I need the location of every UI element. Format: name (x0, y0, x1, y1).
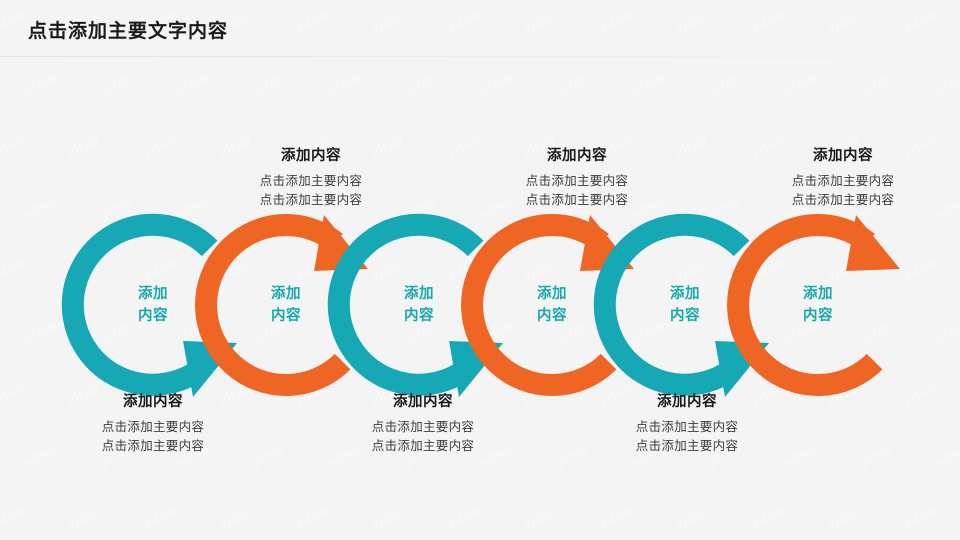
cycle-arcs-svg (0, 0, 960, 540)
ring-label-2-line2: 内容 (243, 305, 329, 327)
callout-bottom-2-line2: 点击添加主要内容 (308, 437, 538, 456)
callout-bottom-2-title: 添加内容 (308, 391, 538, 413)
callout-top-3[interactable]: 添加内容 点击添加主要内容 点击添加主要内容 (728, 145, 958, 210)
ring-label-3: 添加 内容 (376, 283, 462, 327)
ring-label-6: 添加 内容 (775, 283, 861, 327)
callout-top-2-line2: 点击添加主要内容 (462, 191, 692, 210)
ring-label-1: 添加 内容 (110, 283, 196, 327)
callout-top-1-line1: 点击添加主要内容 (196, 172, 426, 191)
callout-top-1-title: 添加内容 (196, 145, 426, 167)
ring-label-3-line2: 内容 (376, 305, 462, 327)
ring-label-5-line1: 添加 (642, 283, 728, 305)
callout-bottom-2-line1: 点击添加主要内容 (308, 418, 538, 437)
ring-label-6-line2: 内容 (775, 305, 861, 327)
slide-canvas: 点击添加主要文字内容 (0, 0, 960, 540)
callout-bottom-3[interactable]: 添加内容 点击添加主要内容 点击添加主要内容 (572, 391, 802, 456)
callout-top-3-line1: 点击添加主要内容 (728, 172, 958, 191)
ring-label-2: 添加 内容 (243, 283, 329, 327)
callout-bottom-1-title: 添加内容 (38, 391, 268, 413)
cycle-diagram: 添加 内容 添加 内容 添加 内容 添加 内容 添加 内容 添加 内容 添加内容… (0, 0, 960, 540)
callout-bottom-3-line2: 点击添加主要内容 (572, 437, 802, 456)
callout-top-3-title: 添加内容 (728, 145, 958, 167)
ring-label-3-line1: 添加 (376, 283, 462, 305)
callout-top-2[interactable]: 添加内容 点击添加主要内容 点击添加主要内容 (462, 145, 692, 210)
ring-label-4: 添加 内容 (509, 283, 595, 327)
ring-label-5: 添加 内容 (642, 283, 728, 327)
ring-label-5-line2: 内容 (642, 305, 728, 327)
callout-bottom-3-title: 添加内容 (572, 391, 802, 413)
callout-top-3-line2: 点击添加主要内容 (728, 191, 958, 210)
ring-label-1-line2: 内容 (110, 305, 196, 327)
ring-label-1-line1: 添加 (110, 283, 196, 305)
callout-bottom-1-line2: 点击添加主要内容 (38, 437, 268, 456)
ring-label-4-line2: 内容 (509, 305, 595, 327)
callout-bottom-2[interactable]: 添加内容 点击添加主要内容 点击添加主要内容 (308, 391, 538, 456)
callout-top-1-line2: 点击添加主要内容 (196, 191, 426, 210)
callout-bottom-3-line1: 点击添加主要内容 (572, 418, 802, 437)
callout-top-1[interactable]: 添加内容 点击添加主要内容 点击添加主要内容 (196, 145, 426, 210)
callout-top-2-line1: 点击添加主要内容 (462, 172, 692, 191)
ring-label-6-line1: 添加 (775, 283, 861, 305)
callout-bottom-1-line1: 点击添加主要内容 (38, 418, 268, 437)
callout-top-2-title: 添加内容 (462, 145, 692, 167)
ring-label-2-line1: 添加 (243, 283, 329, 305)
ring-label-4-line1: 添加 (509, 283, 595, 305)
callout-bottom-1[interactable]: 添加内容 点击添加主要内容 点击添加主要内容 (38, 391, 268, 456)
